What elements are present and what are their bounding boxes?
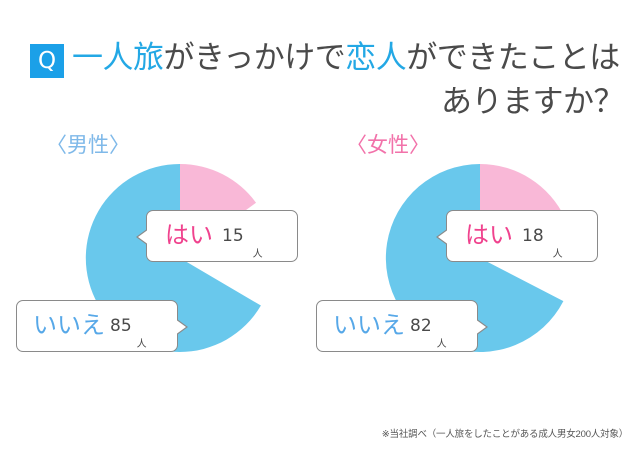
title-plain-2: ができたことは [406,40,620,75]
callout-no-label-female: いいえ [333,314,405,338]
callout-yes-unit-female: 人 [553,250,563,261]
callout-no-female: いいえ 82 人 [316,300,478,352]
callout-yes-female: はい 18 人 [446,210,598,262]
callout-no-unit-male: 人 [137,340,147,351]
survey-footnote: ※当社調べ（一人旅をしたことがある成人男女200人対象） [382,428,628,442]
callout-yes-label-female: はい [465,224,513,248]
chart-panel-female: 〈女性〉 はい 18 人 いいえ 82 人 [318,132,618,402]
callout-no-unit-female: 人 [437,340,447,351]
callout-no-male: いいえ 85 人 [16,300,178,352]
page-title-line-1: 一人旅がきっかけで恋人ができたことは [72,36,624,80]
group-label-male: 〈男性〉 [46,132,130,160]
page-title-line-2: ありますか？ [0,80,624,124]
callout-no-label-male: いいえ [33,314,105,338]
callout-yes-value-male: 15 [222,228,244,245]
title-accent-solo-trip: 一人旅 [72,40,164,75]
question-badge: Q [30,44,64,78]
callout-tail-fill-icon [438,229,449,245]
callout-yes-unit-male: 人 [253,250,263,261]
callout-tail-fill-icon [138,229,149,245]
callout-tail-fill-icon [475,319,486,335]
title-accent-partner: 恋人 [345,40,406,75]
chart-panel-male: 〈男性〉 はい 15 人 いいえ 85 人 [18,132,318,402]
callout-yes-male: はい 15 人 [146,210,298,262]
callout-tail-fill-icon [175,319,186,335]
title-block: Q 一人旅がきっかけで恋人ができたことは ありますか？ [0,36,642,128]
callout-no-value-female: 82 [410,318,432,335]
title-plain-1: がきっかけで [164,40,346,75]
group-label-female: 〈女性〉 [346,132,430,160]
callout-no-value-male: 85 [110,318,132,335]
callout-yes-label-male: はい [165,224,213,248]
callout-yes-value-female: 18 [522,228,544,245]
